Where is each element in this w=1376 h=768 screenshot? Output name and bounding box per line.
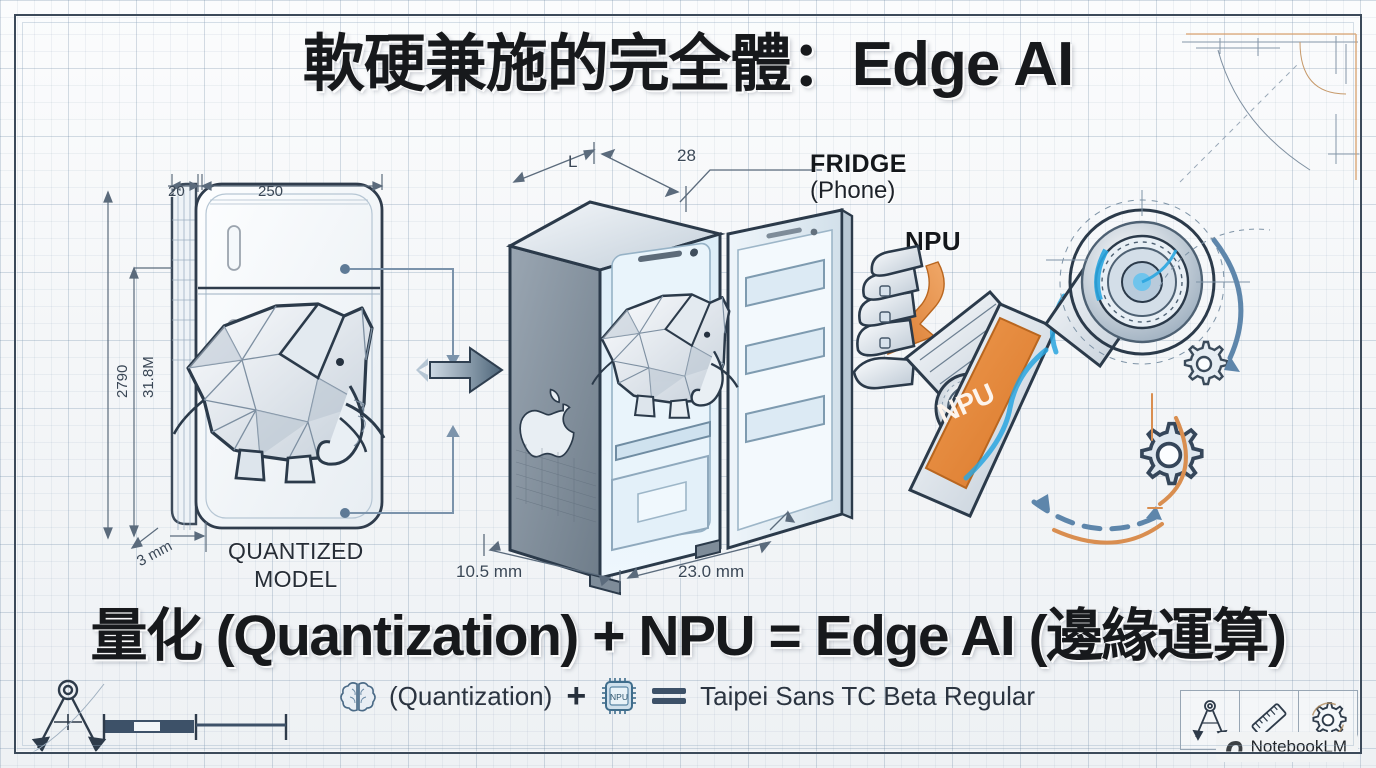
fridge-callout: FRIDGE (Phone) [810, 150, 907, 205]
npu-chip-icon-text: NPU [610, 692, 628, 702]
fridge-callout-title: FRIDGE [810, 150, 907, 179]
page-title: 軟硬兼施的完全體：Edge AI [0, 34, 1376, 96]
dim-left-top-large: 250 [258, 183, 283, 200]
notebooklm-logo [1224, 738, 1244, 756]
left-model-label: QUANTIZED MODEL [228, 537, 364, 593]
scale-bar [100, 710, 290, 742]
dim-center-bottom-left: 10.5 mm [456, 562, 522, 582]
dim-left-height-outer: 2790 [114, 365, 131, 398]
page-caption: 量化 (Quantization) + NPU = Edge AI (邊緣運算) [0, 608, 1376, 665]
dim-center-edge: 28 [677, 146, 696, 166]
sub-caption-quantization: (Quantization) [389, 681, 552, 712]
left-model-label-line1: QUANTIZED [228, 538, 364, 564]
sub-caption-plus: + [566, 677, 586, 716]
blueprint-canvas: 軟硬兼施的完全體：Edge AI [0, 0, 1376, 768]
dim-center-bottom-right: 23.0 mm [678, 562, 744, 582]
watermark-text: NotebookLM [1251, 737, 1347, 757]
left-model-label-line2: MODEL [254, 566, 337, 592]
dim-left-height-inner: 31.8M [140, 356, 157, 398]
sub-caption-font-name: Taipei Sans TC Beta Regular [700, 681, 1035, 712]
brain-icon [341, 679, 375, 713]
dim-left-top-small: 20 [168, 183, 185, 200]
sub-caption-equals [652, 684, 686, 708]
watermark: NotebookLM [1216, 732, 1358, 762]
dim-center-depth: L [568, 152, 577, 172]
npu-chip-icon: NPU [600, 676, 638, 716]
motion-arcs [1000, 230, 1330, 560]
